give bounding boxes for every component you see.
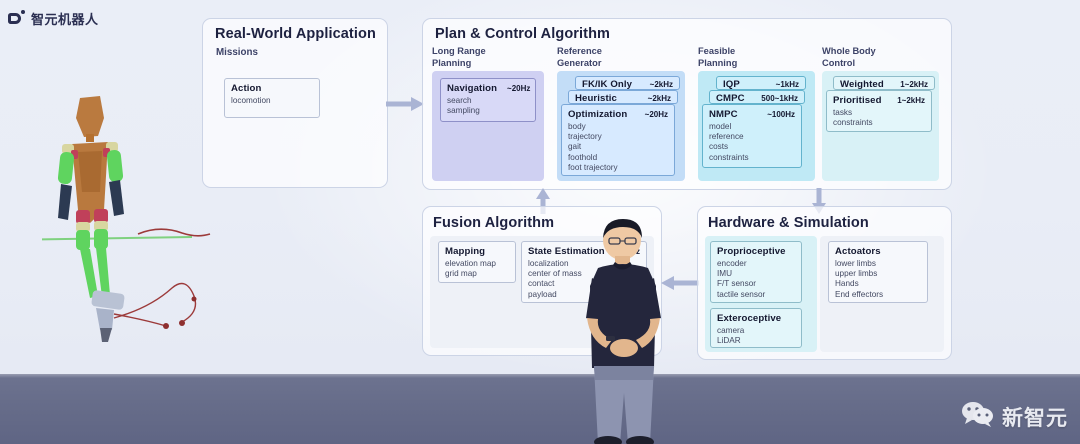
column-label-reference-generator: Reference Generator [557, 46, 602, 69]
card-weighted-head: Weighted 1~2kHz [840, 79, 928, 90]
brand-name: 智元机器人 [31, 9, 99, 28]
hardware-title: Hardware & Simulation [708, 215, 869, 231]
card-exteroceptive-title: Exteroceptive [717, 313, 781, 324]
card-actuators-items: lower limbs upper limbs Hands End effect… [835, 259, 921, 300]
card-fk-ik-only[interactable]: FK/IK Only ~2kHz [575, 76, 680, 90]
card-nmpc-items: model reference costs constraints [709, 122, 795, 163]
real-world-title: Real-World Application [215, 26, 376, 42]
card-cmpc[interactable]: CMPC 500~1kHz [709, 90, 805, 104]
card-mapping-head: Mapping [445, 246, 509, 257]
agibot-logo-icon [8, 10, 25, 27]
card-prioritised-head: Prioritised 1~2kHz [833, 95, 925, 106]
card-exteroceptive-items: camera LiDAR [717, 326, 795, 346]
card-prioritised-title: Prioritised [833, 95, 882, 106]
card-optimization-title: Optimization [568, 109, 627, 120]
card-actuators[interactable]: Actoators lower limbs upper limbs Hands … [828, 241, 928, 303]
stage-floor [0, 374, 1080, 444]
card-exteroceptive[interactable]: Exteroceptive camera LiDAR [710, 308, 802, 348]
card-action-items: locomotion [231, 96, 313, 106]
card-actuators-head: Actoators [835, 246, 921, 257]
card-fk-ik-only-head: FK/IK Only ~2kHz [582, 79, 673, 90]
card-proprioceptive-title: Proprioceptive [717, 246, 786, 257]
plan-control-title: Plan & Control Algorithm [435, 26, 610, 42]
card-proprioceptive-head: Proprioceptive [717, 246, 795, 257]
card-optimization-head: Optimization ~20Hz [568, 109, 668, 120]
presenter-person [568, 218, 680, 444]
card-weighted-freq: 1~2kHz [890, 80, 928, 89]
card-cmpc-head: CMPC 500~1kHz [716, 93, 798, 104]
card-nmpc-freq: ~100Hz [757, 110, 795, 119]
real-world-subtitle: Missions [216, 47, 258, 59]
column-label-feasible-planning: Feasible Planning [698, 46, 737, 69]
card-iqp-freq: ~1kHz [766, 80, 799, 89]
card-action[interactable]: Action locomotion [224, 78, 320, 118]
card-optimization-items: body trajectory gait foothold foot traje… [568, 122, 668, 173]
card-iqp[interactable]: IQP ~1kHz [716, 76, 806, 90]
card-prioritised-items: tasks constraints [833, 108, 925, 128]
card-fk-ik-only-title: FK/IK Only [582, 79, 632, 90]
card-cmpc-title: CMPC [716, 93, 745, 104]
card-cmpc-freq: 500~1kHz [751, 94, 798, 103]
card-iqp-title: IQP [723, 79, 740, 90]
watermark-text: 新智元 [1002, 402, 1068, 432]
card-heuristic-title: Heuristic [575, 93, 617, 104]
robot-kinematics-visualization [42, 92, 212, 354]
card-nmpc-head: NMPC ~100Hz [709, 109, 795, 120]
card-optimization[interactable]: Optimization ~20Hz body trajectory gait … [561, 104, 675, 176]
column-label-whole-body-control: Whole Body Control [822, 46, 876, 69]
card-heuristic-freq: ~2kHz [638, 94, 671, 103]
card-heuristic-head: Heuristic ~2kHz [575, 93, 671, 104]
card-navigation-items: search sampling [447, 96, 529, 116]
card-nmpc-title: NMPC [709, 109, 738, 120]
card-prioritised[interactable]: Prioritised 1~2kHz tasks constraints [826, 90, 932, 132]
card-mapping-items: elevation map grid map [445, 259, 509, 279]
card-navigation-title: Navigation [447, 83, 497, 94]
card-proprioceptive-items: encoder IMU F/T sensor tactile sensor [717, 259, 795, 300]
card-optimization-freq: ~20Hz [635, 110, 668, 119]
card-actuators-title: Actoators [835, 246, 881, 257]
card-heuristic[interactable]: Heuristic ~2kHz [568, 90, 678, 104]
card-mapping[interactable]: Mapping elevation map grid map [438, 241, 516, 283]
card-action-title: Action [231, 83, 261, 94]
card-mapping-title: Mapping [445, 246, 485, 257]
card-prioritised-freq: 1~2kHz [887, 96, 925, 105]
column-label-long-range-planning: Long Range Planning [432, 46, 486, 69]
card-navigation-head: Navigation ~20Hz [447, 83, 529, 94]
presentation-slide-screenshot: 智元机器人 [0, 0, 1080, 444]
fusion-title: Fusion Algorithm [433, 215, 554, 231]
brand-logo: 智元机器人 [8, 9, 99, 28]
card-fk-ik-only-freq: ~2kHz [640, 80, 673, 89]
card-action-head: Action [231, 83, 313, 94]
card-iqp-head: IQP ~1kHz [723, 79, 799, 90]
card-navigation-freq: ~20Hz [497, 84, 530, 93]
wechat-icon [961, 401, 995, 432]
card-navigation[interactable]: Navigation ~20Hz search sampling [440, 78, 536, 122]
card-exteroceptive-head: Exteroceptive [717, 313, 795, 324]
channel-watermark: 新智元 [961, 401, 1068, 432]
stage-floor-edge [0, 374, 1080, 378]
card-weighted[interactable]: Weighted 1~2kHz [833, 76, 935, 90]
card-proprioceptive[interactable]: Proprioceptive encoder IMU F/T sensor ta… [710, 241, 802, 303]
arrow-realworld-to-plan [386, 96, 426, 117]
card-nmpc[interactable]: NMPC ~100Hz model reference costs constr… [702, 104, 802, 168]
card-weighted-title: Weighted [840, 79, 884, 90]
